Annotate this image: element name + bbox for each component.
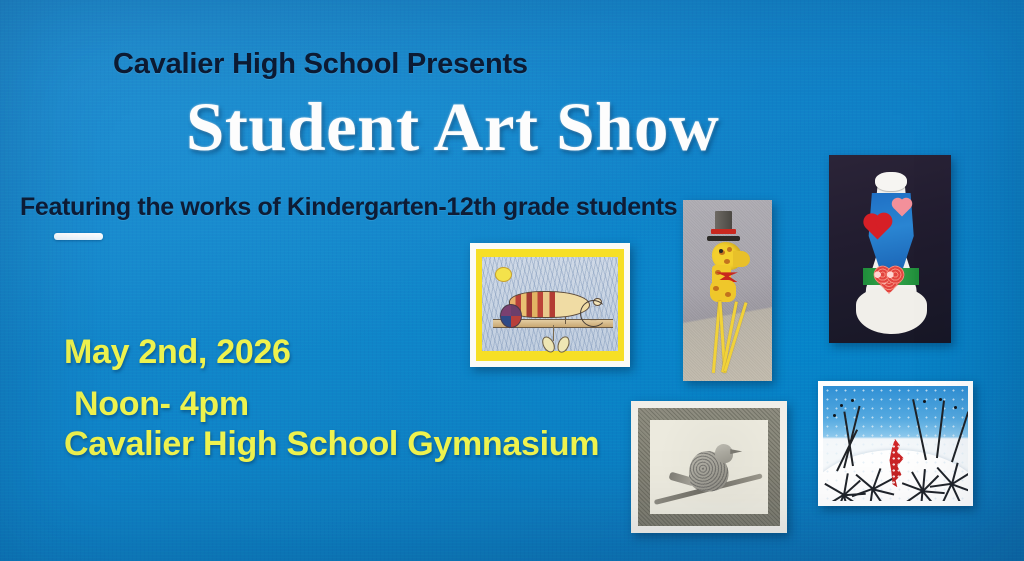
bud [954, 406, 957, 409]
artwork-giraffe-sculpture [683, 200, 772, 381]
bottle-cap [875, 172, 907, 191]
bird-beak [730, 449, 742, 454]
top-hat-red-band [711, 229, 736, 234]
bottle-base [856, 287, 927, 334]
event-venue: Cavalier High School Gymnasium [64, 425, 599, 464]
artwork-winter-cardinal-painting [818, 381, 973, 506]
art-show-poster: Cavalier High School Presents Student Ar… [0, 0, 1024, 561]
event-date: May 2nd, 2026 [64, 333, 291, 372]
leaf-stem [553, 325, 555, 341]
sun-icon [496, 268, 511, 281]
poster-kicker: Cavalier High School Presents [113, 48, 528, 81]
event-time: Noon- 4pm [74, 385, 249, 424]
giraffe-eye [719, 249, 723, 253]
top-hat-crown [715, 211, 732, 231]
poster-subtitle: Featuring the works of Kindergarten-12th… [20, 193, 677, 222]
top-hat-brim [707, 236, 740, 241]
bud [833, 414, 836, 417]
bud [939, 398, 942, 401]
artwork-bird-pencil-drawing [631, 401, 787, 533]
winter-scene [823, 386, 968, 501]
bird-head [715, 444, 733, 463]
divider-bar [54, 233, 103, 240]
chameleon-drawing-surface [482, 257, 618, 351]
bud [923, 400, 926, 403]
artwork-chameleon-drawing [470, 243, 630, 367]
giraffe-snout [733, 251, 750, 267]
giraffe-body [710, 280, 736, 302]
artwork-bottle-collage [829, 155, 951, 343]
bird-drawing-surface [650, 420, 768, 514]
chameleon-curled-tail [500, 304, 522, 328]
page-title: Student Art Show [186, 88, 719, 167]
bud [851, 399, 854, 402]
